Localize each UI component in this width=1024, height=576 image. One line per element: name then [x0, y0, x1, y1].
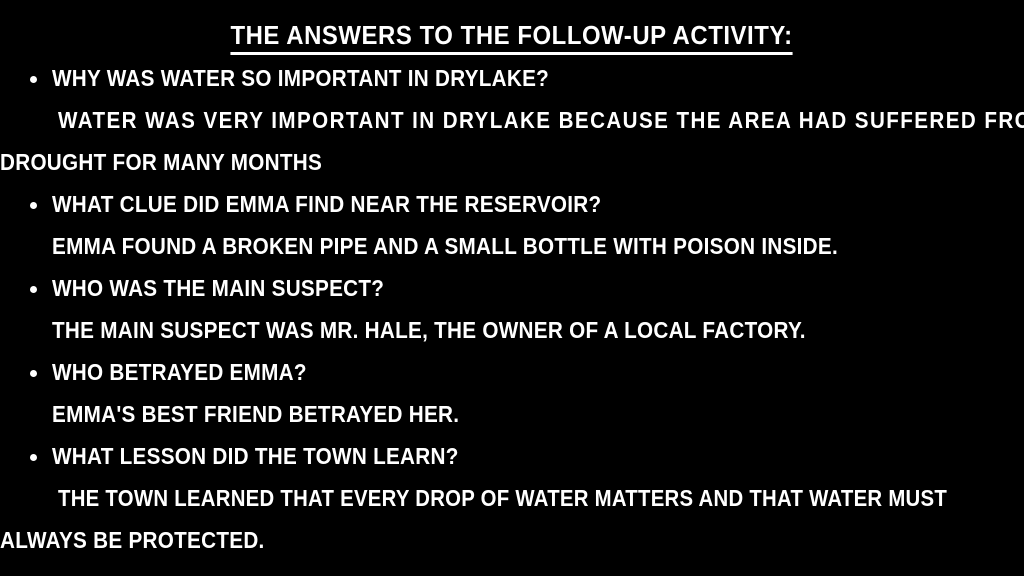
qa-item: WHAT LESSON DID THE TOWN LEARN? THE TOWN…	[0, 435, 1024, 561]
answer-line-continuation: ALWAYS BE PROTECTED.	[0, 519, 1024, 561]
answer-line: EMMA'S BEST FRIEND BETRAYED HER.	[0, 393, 1024, 435]
question-line: WHAT LESSON DID THE TOWN LEARN?	[0, 435, 1024, 477]
answer-line-continuation: DROUGHT FOR MANY MONTHS	[0, 141, 1024, 183]
question-text: WHAT LESSON DID THE TOWN LEARN?	[52, 435, 459, 477]
bullet-icon	[30, 76, 37, 83]
qa-item: WHO BETRAYED EMMA? EMMA'S BEST FRIEND BE…	[0, 351, 1024, 435]
question-line: WHO WAS THE MAIN SUSPECT?	[0, 267, 1024, 309]
answer-text-continuation: DROUGHT FOR MANY MONTHS	[0, 141, 322, 183]
page-title: THE ANSWERS TO THE FOLLOW-UP ACTIVITY:	[231, 20, 793, 55]
question-text: WHO BETRAYED EMMA?	[52, 351, 307, 393]
answer-line: WATER WAS VERY IMPORTANT IN DRYLAKE BECA…	[0, 99, 1024, 141]
bullet-icon	[30, 202, 37, 209]
question-line: WHAT CLUE DID EMMA FIND NEAR THE RESERVO…	[0, 183, 1024, 225]
bullet-icon	[30, 370, 37, 377]
qa-item: WHY WAS WATER SO IMPORTANT IN DRYLAKE? W…	[0, 57, 1024, 183]
answer-line: EMMA FOUND A BROKEN PIPE AND A SMALL BOT…	[0, 225, 1024, 267]
qa-item: WHAT CLUE DID EMMA FIND NEAR THE RESERVO…	[0, 183, 1024, 267]
slide-title-row: THE ANSWERS TO THE FOLLOW-UP ACTIVITY:	[0, 20, 1024, 55]
bullet-icon	[30, 286, 37, 293]
question-line: WHO BETRAYED EMMA?	[0, 351, 1024, 393]
answer-text: EMMA FOUND A BROKEN PIPE AND A SMALL BOT…	[52, 225, 838, 267]
answer-line: THE TOWN LEARNED THAT EVERY DROP OF WATE…	[0, 477, 1024, 519]
qa-list: WHY WAS WATER SO IMPORTANT IN DRYLAKE? W…	[0, 57, 1024, 561]
answer-text: THE MAIN SUSPECT WAS MR. HALE, THE OWNER…	[52, 309, 806, 351]
question-text: WHY WAS WATER SO IMPORTANT IN DRYLAKE?	[52, 57, 549, 99]
qa-item: WHO WAS THE MAIN SUSPECT? THE MAIN SUSPE…	[0, 267, 1024, 351]
question-text: WHO WAS THE MAIN SUSPECT?	[52, 267, 384, 309]
answer-text: THE TOWN LEARNED THAT EVERY DROP OF WATE…	[58, 477, 947, 519]
question-text: WHAT CLUE DID EMMA FIND NEAR THE RESERVO…	[52, 183, 601, 225]
bullet-icon	[30, 454, 37, 461]
answer-text-continuation: ALWAYS BE PROTECTED.	[0, 519, 265, 561]
answer-text: WATER WAS VERY IMPORTANT IN DRYLAKE BECA…	[58, 99, 1024, 141]
answer-text: EMMA'S BEST FRIEND BETRAYED HER.	[52, 393, 459, 435]
slide-canvas: THE ANSWERS TO THE FOLLOW-UP ACTIVITY: W…	[0, 0, 1024, 576]
answer-line: THE MAIN SUSPECT WAS MR. HALE, THE OWNER…	[0, 309, 1024, 351]
question-line: WHY WAS WATER SO IMPORTANT IN DRYLAKE?	[0, 57, 1024, 99]
